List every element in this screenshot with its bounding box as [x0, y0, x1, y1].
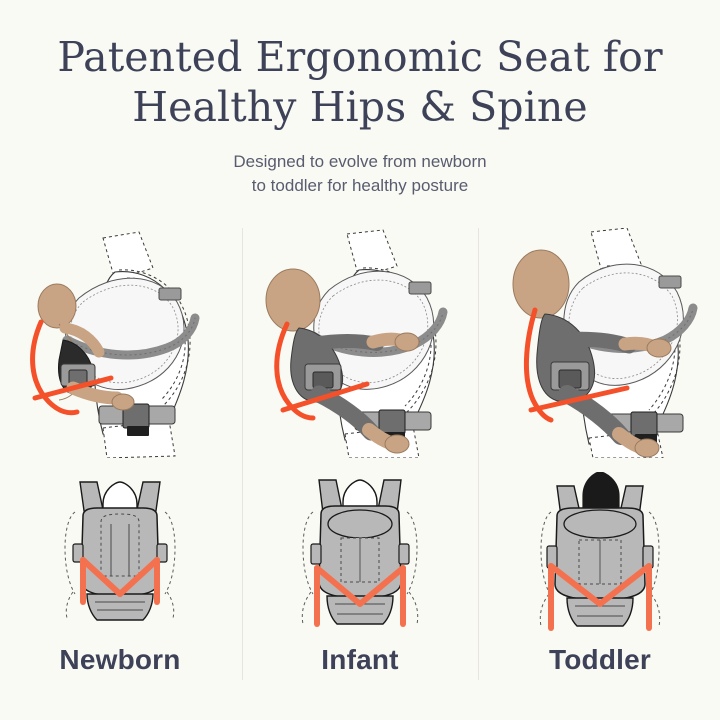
stage-label-newborn: Newborn: [59, 646, 180, 674]
carrier-front-newborn: [73, 482, 167, 620]
column-newborn: Newborn: [0, 228, 240, 720]
page-subtitle-line-1: Designed to evolve from newborn: [140, 150, 580, 174]
page-title-line-1: Patented Ergonomic Seat for: [40, 32, 680, 82]
page-title: Patented Ergonomic Seat for Healthy Hips…: [40, 32, 680, 132]
toddler-side-view-illustration: [487, 228, 713, 458]
column-toddler: Toddler: [480, 228, 720, 720]
toddler-hair: [583, 472, 619, 510]
newborn-side-view-illustration: [7, 228, 233, 458]
column-infant: Infant: [240, 228, 480, 720]
page-subtitle: Designed to evolve from newborn to toddl…: [140, 150, 580, 198]
newborn-front-view-illustration: [25, 472, 215, 632]
stage-columns: Newborn: [0, 228, 720, 720]
ergonomic-seat-infographic: Patented Ergonomic Seat for Healthy Hips…: [0, 0, 720, 720]
infant-side-view-illustration: [247, 228, 473, 458]
stage-label-infant: Infant: [321, 646, 398, 674]
stage-label-toddler: Toddler: [549, 646, 651, 674]
page-title-line-2: Healthy Hips & Spine: [40, 82, 680, 132]
toddler-front-view-illustration: [505, 472, 695, 632]
page-subtitle-line-2: to toddler for healthy posture: [140, 174, 580, 198]
infant-front-view-illustration: [265, 472, 455, 632]
header: Patented Ergonomic Seat for Healthy Hips…: [0, 0, 720, 198]
